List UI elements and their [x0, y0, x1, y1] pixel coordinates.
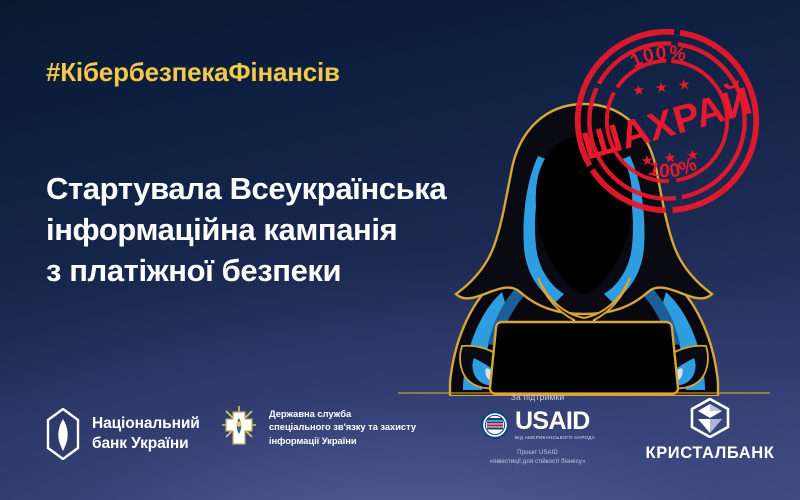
- dssz-line-2: спеціального зв'язку та захисту: [269, 420, 416, 433]
- stamp-top-text: 100%: [626, 39, 691, 74]
- campaign-hashtag: #КібербезпекаФінансів: [46, 57, 340, 88]
- logo-state-special-communications: Державна служба спеціального зв'язку та …: [219, 404, 416, 450]
- dssz-line-3: інформації України: [269, 434, 416, 447]
- nbu-logo-text: Національний банк України: [92, 414, 200, 454]
- logo-kristalbank: КРИСТАЛБАНК: [635, 398, 785, 463]
- usaid-tagline: ВІД АМЕРИКАНСЬКОГО НАРОДУ: [515, 436, 595, 441]
- laptop: [490, 322, 678, 394]
- page-title: Стартувала Всеукраїнська інформаційна ка…: [46, 168, 446, 292]
- support-label: За підтримки: [455, 392, 620, 402]
- nbu-logo-icon: [46, 408, 80, 460]
- nbu-line-2: банк України: [92, 434, 200, 454]
- dssz-logo-icon: [219, 404, 259, 450]
- dssz-line-1: Державна служба: [269, 407, 416, 420]
- headline-line-1: Стартувала Всеукраїнська: [46, 168, 446, 209]
- dssz-logo-text: Державна служба спеціального зв'язку та …: [269, 407, 416, 447]
- kristalbank-wordmark: КРИСТАЛБАНК: [635, 444, 785, 463]
- campaign-poster: #КібербезпекаФінансів Стартувала Всеукра…: [0, 0, 800, 500]
- logo-national-bank-of-ukraine: Національний банк України: [46, 408, 200, 460]
- svg-text:100%: 100%: [626, 39, 691, 74]
- usaid-project-line-1: Проєкт USAID: [455, 448, 620, 457]
- headline-line-3: з платіжної безпеки: [46, 250, 446, 291]
- usaid-logo-row: USAID ВІД АМЕРИКАНСЬКОГО НАРОДУ: [455, 409, 620, 441]
- nbu-line-1: Національний: [92, 414, 200, 434]
- logo-usaid-block: За підтримки USAID ВІД АМЕРИКАНСЬ: [455, 386, 620, 466]
- usaid-project-note: Проєкт USAID «Інвестиції для стійкості б…: [455, 448, 620, 467]
- status-badge: 100% 100% ★ ★ ★ ★ ★ ★ ШАХРАЙ: [559, 13, 775, 229]
- kristalbank-logo-icon: [689, 398, 731, 438]
- usaid-project-line-2: «Інвестиції для стійкості бізнесу»: [455, 457, 620, 466]
- usaid-seal-icon: [480, 410, 510, 440]
- headline-line-2: інформаційна кампанія: [46, 209, 446, 250]
- usaid-wordmark-group: USAID ВІД АМЕРИКАНСЬКОГО НАРОДУ: [515, 409, 595, 441]
- usaid-wordmark: USAID: [515, 409, 595, 434]
- partner-logos: Національний банк України Державна служб…: [0, 386, 800, 500]
